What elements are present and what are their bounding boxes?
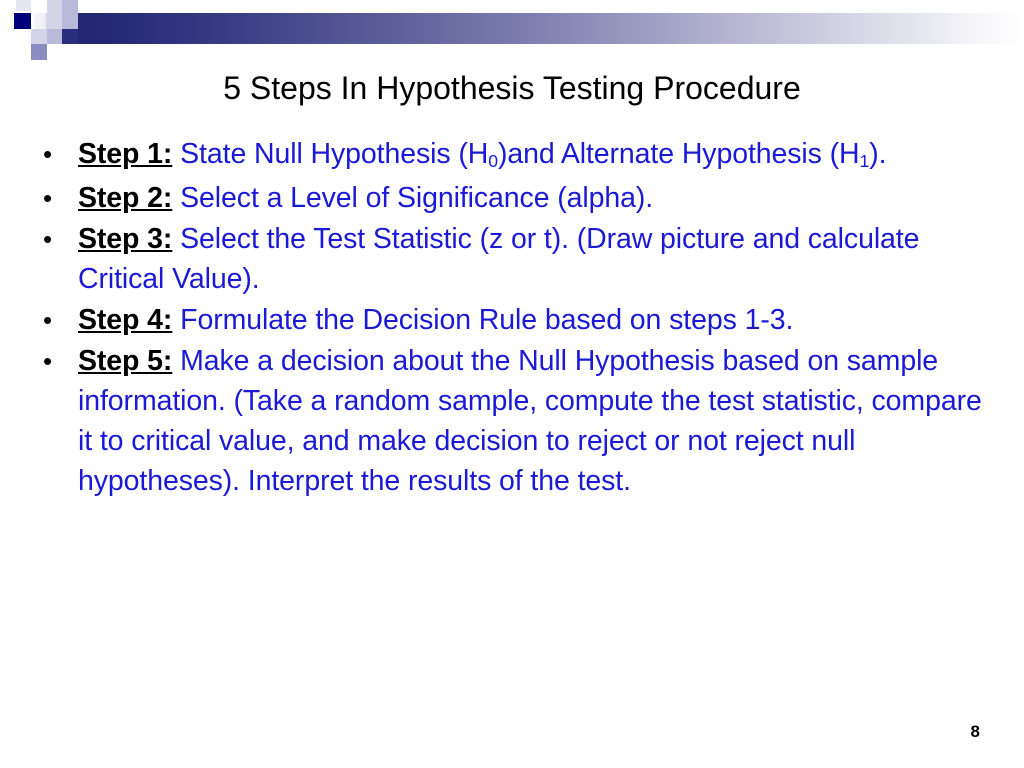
step-label: Step 3: <box>78 223 172 255</box>
subscript: 1 <box>860 151 870 171</box>
decor-square-mid-2 <box>62 13 78 29</box>
page-title: 5 Steps In Hypothesis Testing Procedure <box>60 70 964 107</box>
header-decoration <box>0 0 1024 62</box>
subscript: 0 <box>488 151 498 171</box>
decor-square-low-2 <box>47 29 62 44</box>
list-item: •Step 1: State Null Hypothesis (H0)and A… <box>36 134 996 177</box>
page-number: 8 <box>971 722 980 742</box>
step-description: Make a decision about the Null Hypothesi… <box>78 345 982 497</box>
decor-square-top-2 <box>47 0 62 13</box>
decor-square-low-1 <box>31 29 47 44</box>
decor-square-bottom-1 <box>31 44 47 60</box>
list-item: •Step 5: Make a decision about the Null … <box>36 341 996 501</box>
decor-square-mid-1 <box>46 13 62 29</box>
step-label: Step 1: <box>78 138 172 170</box>
list-item: •Step 2: Select a Level of Significance … <box>36 178 996 218</box>
decor-square-anchor <box>14 13 31 29</box>
step-description: Select the Test Statistic (z or t). (Dra… <box>78 223 919 295</box>
list-item: •Step 4: Formulate the Decision Rule bas… <box>36 300 996 340</box>
bullet-dot-icon: • <box>43 300 63 340</box>
list-item: •Step 3: Select the Test Statistic (z or… <box>36 219 996 299</box>
decor-square-top-3 <box>62 0 78 13</box>
bullet-dot-icon: • <box>43 134 63 174</box>
bullet-dot-icon: • <box>43 178 63 218</box>
steps-list: •Step 1: State Null Hypothesis (H0)and A… <box>36 134 996 502</box>
step-label: Step 4: <box>78 304 172 336</box>
header-gradient-bar <box>62 13 1024 44</box>
decor-square-low-3 <box>62 29 78 44</box>
step-description: Select a Level of Significance (alpha). <box>172 182 653 214</box>
bullet-dot-icon: • <box>43 219 63 259</box>
step-description: State Null Hypothesis (H0)and Alternate … <box>172 138 886 170</box>
step-description: Formulate the Decision Rule based on ste… <box>172 304 793 336</box>
step-label: Step 2: <box>78 182 172 214</box>
step-label: Step 5: <box>78 345 172 377</box>
bullet-dot-icon: • <box>43 341 63 381</box>
